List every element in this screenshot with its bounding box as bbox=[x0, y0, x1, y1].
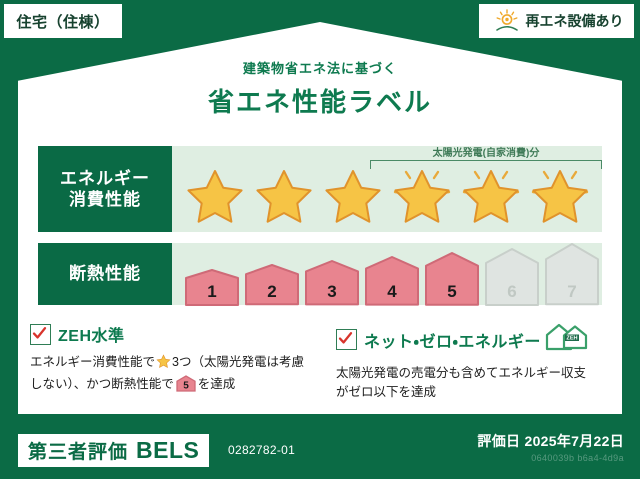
energy-performance-row: エネルギー 消費性能 太陽光発電(自家消費)分 bbox=[38, 146, 602, 232]
title-subtitle: 建築物省エネ法に基づく bbox=[0, 58, 640, 77]
insulation-grade-value: 3 bbox=[304, 282, 360, 302]
insulation-grade-value: 4 bbox=[364, 282, 420, 302]
energy-star-4 bbox=[389, 162, 455, 224]
bels-jp-text: 第三者評価 bbox=[28, 437, 128, 464]
inline-grade-badge: 5 bbox=[176, 381, 196, 395]
evaluation-date: 評価日 2025年7月22日 bbox=[477, 431, 624, 451]
check-nze-description: 太陽光発電の売電分も含めてエネルギー収支がゼロ以下を達成 bbox=[336, 364, 596, 403]
insulation-grade-value: 1 bbox=[184, 282, 240, 302]
insulation-grade-value: 6 bbox=[484, 282, 540, 302]
check-zeh-standard: ZEH水準 エネルギー消費性能で3つ（太陽光発電は考慮しない）、かつ断熱性能で5… bbox=[30, 322, 320, 403]
check-zeh-header: ZEH水準 bbox=[30, 322, 306, 346]
energy-star-5 bbox=[458, 162, 524, 224]
title-main: 省エネ性能ラベル bbox=[0, 82, 640, 119]
bels-id-number: 0282782-01 bbox=[228, 443, 295, 457]
check-net-zero-energy: ネット・ゼロ・エネルギー ZEH 太陽光発電の売電分も含めてエネルギー収支がゼロ… bbox=[320, 322, 610, 403]
insulation-grade-7: 7 bbox=[544, 242, 600, 305]
energy-performance-label-box: エネルギー 消費性能 bbox=[38, 146, 172, 232]
energy-star-6 bbox=[527, 162, 593, 224]
label-footer: 第三者評価 BELS 0282782-01 評価日 2025年7月22日 064… bbox=[0, 421, 640, 479]
insulation-grade-value: 7 bbox=[544, 282, 600, 302]
checkbox-net-zero-energy[interactable] bbox=[336, 329, 357, 350]
building-type-text: 住宅（住棟） bbox=[16, 11, 109, 32]
inline-star-icon bbox=[156, 358, 171, 372]
insulation-performance-label-box: 断熱性能 bbox=[38, 243, 172, 305]
check-nze-title: ネット・ゼロ・エネルギー bbox=[364, 328, 541, 352]
energy-star-3 bbox=[320, 162, 386, 224]
energy-star-1 bbox=[182, 162, 248, 224]
check-zeh-description: エネルギー消費性能で3つ（太陽光発電は考慮しない）、かつ断熱性能で5を達成 bbox=[30, 353, 306, 399]
energy-rating-area: 太陽光発電(自家消費)分 bbox=[172, 146, 602, 232]
energy-star-2 bbox=[251, 162, 317, 224]
sun-icon bbox=[494, 9, 520, 33]
insulation-grade-value: 2 bbox=[244, 282, 300, 302]
insulation-grade-6: 6 bbox=[484, 247, 540, 306]
zeh-house-logo-icon: ZEH bbox=[544, 322, 590, 357]
energy-performance-label: 住宅（住棟） 再エネ設備あり 建築物省エネ法に基づく 省エネ性能ラベル bbox=[0, 0, 640, 479]
check-zeh-desc-part1: エネルギー消費性能で bbox=[30, 355, 155, 369]
energy-label-line1: エネルギー bbox=[60, 168, 150, 189]
bels-en-text: BELS bbox=[136, 437, 199, 464]
achievement-checks: ZEH水準 エネルギー消費性能で3つ（太陽光発電は考慮しない）、かつ断熱性能で5… bbox=[30, 322, 610, 403]
insulation-grade-5: 5 bbox=[424, 251, 480, 306]
building-type-tag: 住宅（住棟） bbox=[4, 4, 122, 38]
renewable-equipment-text: 再エネ設備あり bbox=[526, 11, 624, 31]
evaluation-code-watermark: 0640039b b6a4-4d9a bbox=[477, 453, 624, 463]
insulation-grade-4: 4 bbox=[364, 255, 420, 306]
energy-label-line2: 消費性能 bbox=[69, 189, 141, 210]
check-nze-header: ネット・ゼロ・エネルギー ZEH bbox=[336, 322, 596, 357]
label-title: 建築物省エネ法に基づく 省エネ性能ラベル bbox=[0, 58, 640, 119]
insulation-grade-value: 5 bbox=[424, 282, 480, 302]
insulation-rating-area: 1234567 bbox=[172, 243, 602, 305]
insulation-grade-3: 3 bbox=[304, 259, 360, 305]
check-zeh-title: ZEH水準 bbox=[58, 322, 125, 346]
insulation-label-text: 断熱性能 bbox=[69, 263, 141, 284]
svg-text:5: 5 bbox=[183, 381, 189, 392]
check-zeh-desc-part3: を達成 bbox=[198, 377, 236, 391]
evaluation-info: 評価日 2025年7月22日 0640039b b6a4-4d9a bbox=[477, 431, 624, 463]
insulation-grade-scale: 1234567 bbox=[172, 242, 600, 305]
checkbox-zeh-standard[interactable] bbox=[30, 324, 51, 345]
insulation-performance-row: 断熱性能 1234567 bbox=[38, 243, 602, 305]
energy-star-rating bbox=[172, 162, 593, 224]
renewable-equipment-tag: 再エネ設備あり bbox=[479, 4, 634, 38]
insulation-grade-2: 2 bbox=[244, 263, 300, 305]
insulation-grade-1: 1 bbox=[184, 268, 240, 306]
pv-note-text: 太陽光発電(自家消費)分 bbox=[370, 144, 602, 159]
svg-text:ZEH: ZEH bbox=[566, 336, 577, 342]
bels-badge: 第三者評価 BELS bbox=[18, 434, 209, 467]
